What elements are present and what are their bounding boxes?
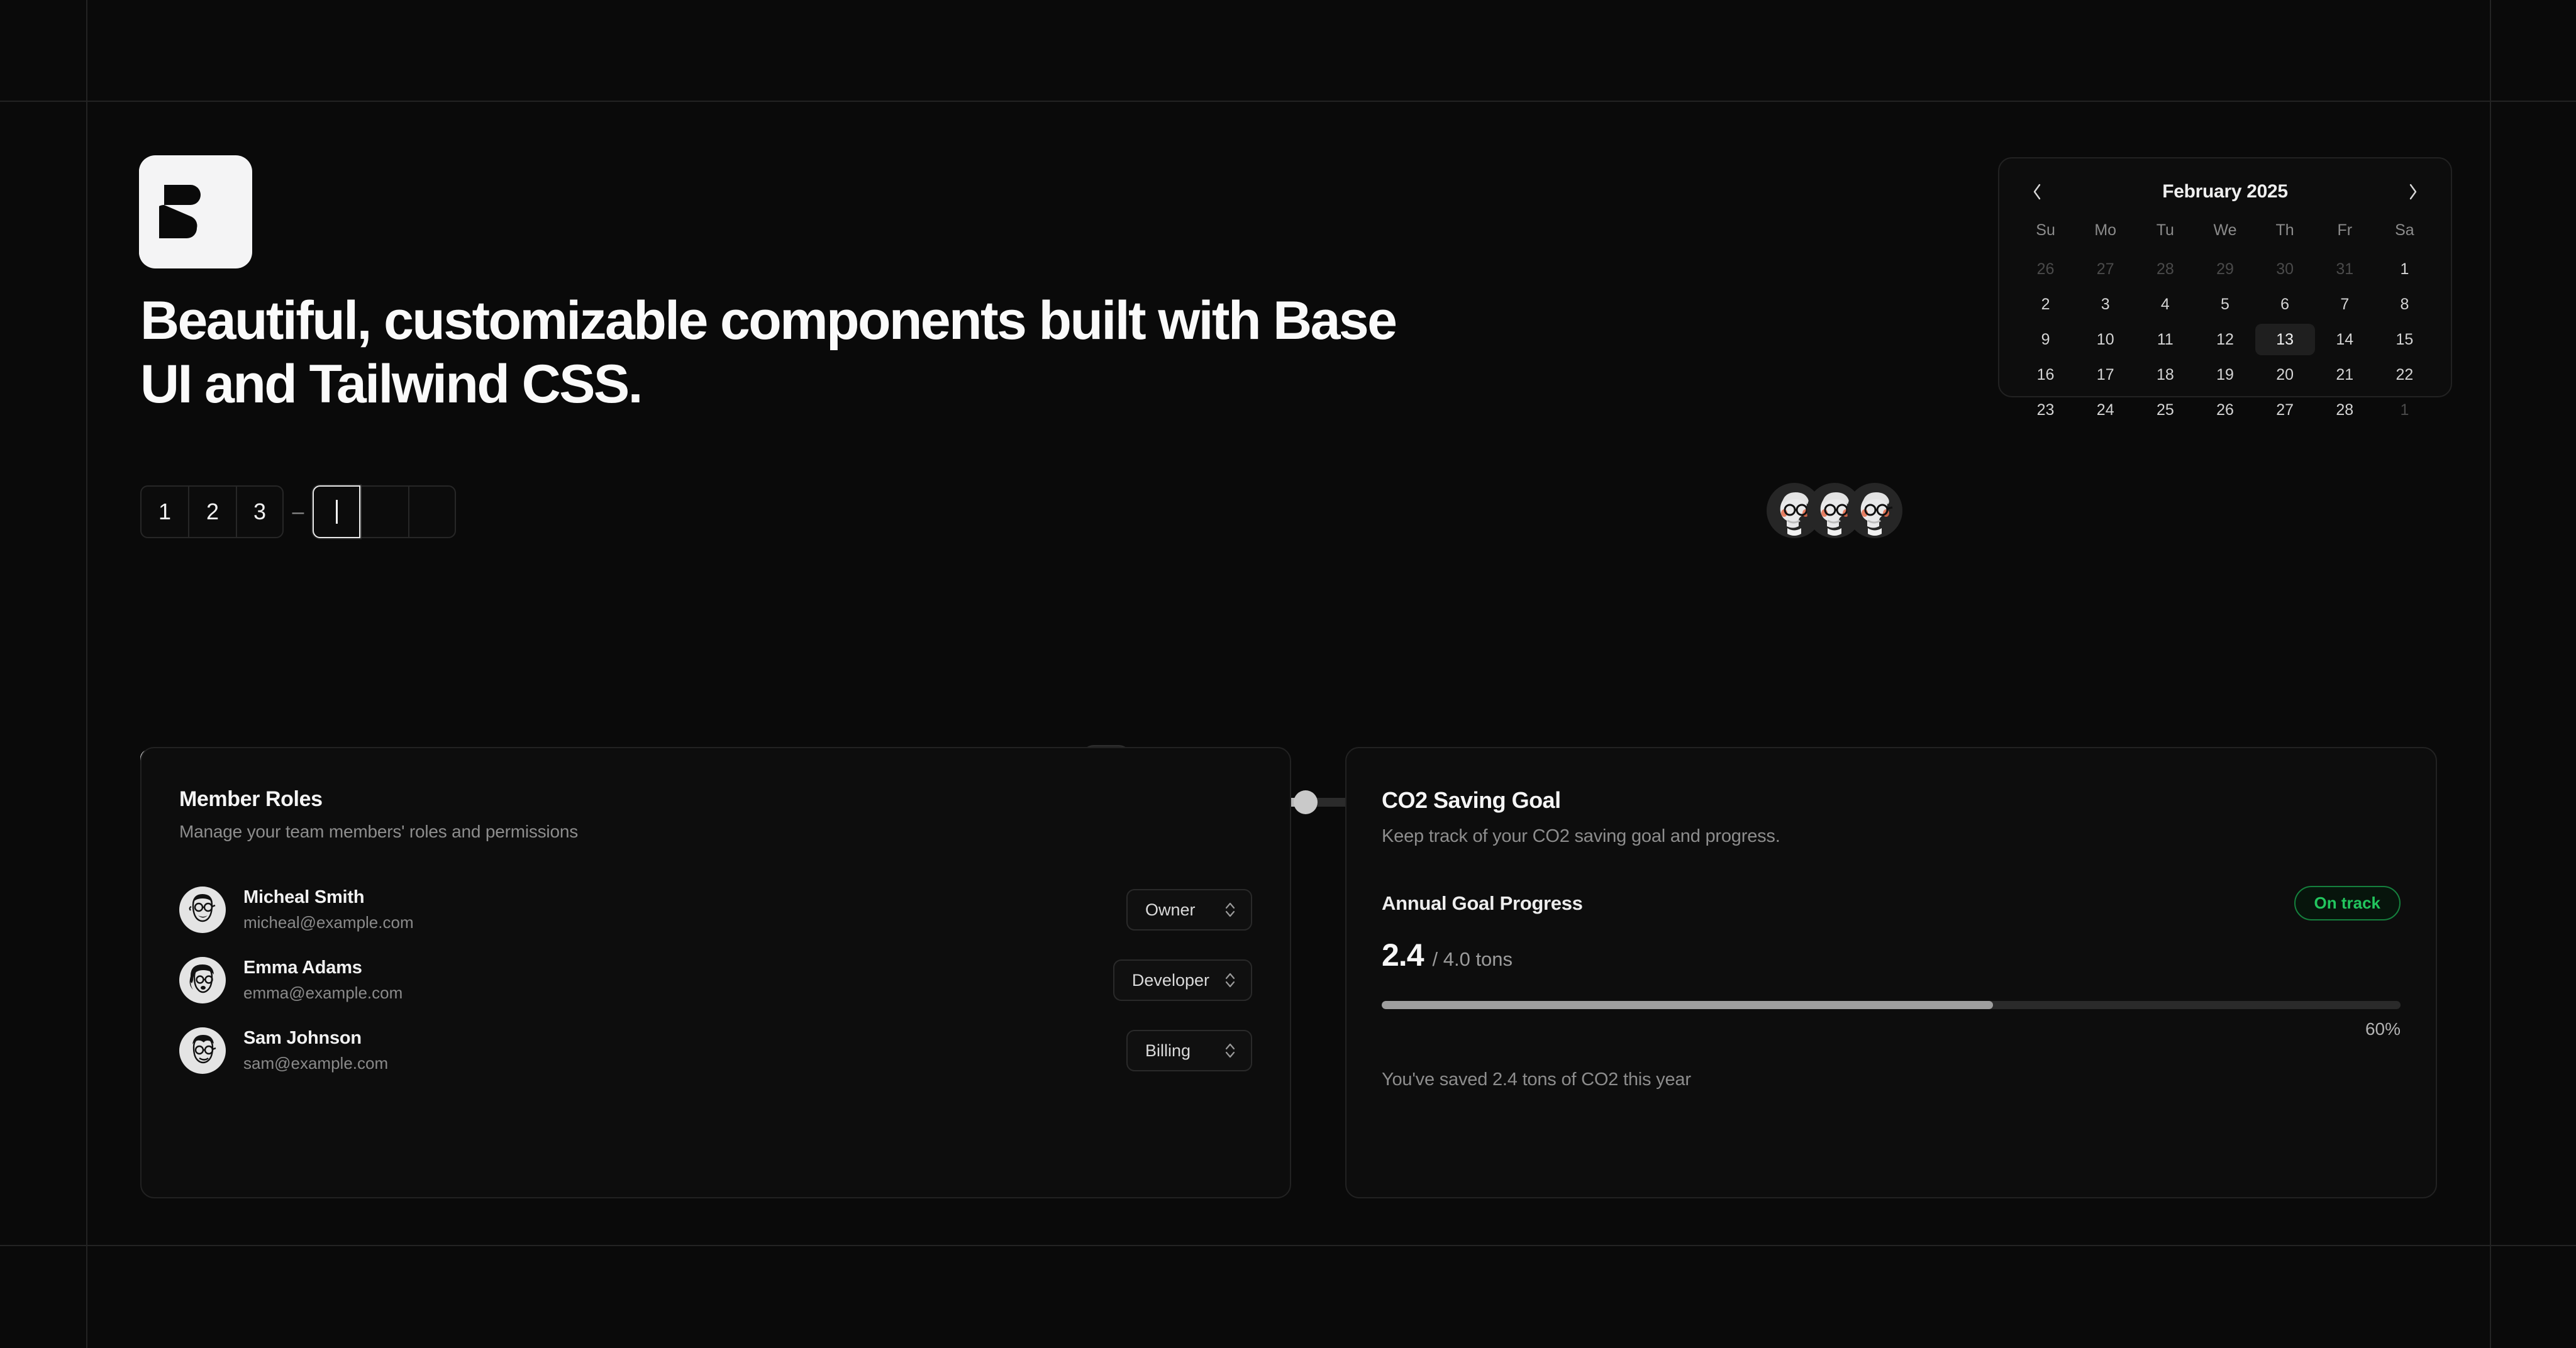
page-root: Beautiful, customizable components built… (0, 0, 2576, 1348)
member-roles-title: Member Roles (179, 787, 1252, 812)
member-info: Emma Adams emma@example.com (243, 958, 1113, 1003)
calendar-day[interactable]: 1 (2375, 394, 2434, 426)
role-select-value: Owner (1145, 900, 1196, 920)
grid-line-right (2490, 0, 2491, 1348)
member-name: Emma Adams (243, 958, 1113, 978)
member-roles-subtitle: Manage your team members' roles and perm… (179, 822, 1252, 842)
member-info: Micheal Smith micheal@example.com (243, 887, 1126, 932)
headline-line-2: UI and Tailwind CSS. (140, 354, 641, 414)
calendar-day[interactable]: 10 (2075, 324, 2135, 355)
calendar-weekday: Tu (2135, 215, 2195, 245)
role-select[interactable]: Developer (1113, 959, 1252, 1001)
calendar-weekday: Mo (2075, 215, 2135, 245)
calendar-day[interactable]: 30 (2255, 253, 2315, 285)
page-title: Beautiful, customizable components built… (140, 289, 1775, 416)
headline-line-1: Beautiful, customizable components built… (140, 290, 1396, 351)
co2-card-subtitle: Keep track of your CO2 saving goal and p… (1382, 826, 2401, 847)
member-row: Emma Adams emma@example.com Developer (179, 945, 1252, 1015)
calendar-weekday: We (2195, 215, 2255, 245)
otp-slot-6[interactable] (408, 485, 456, 538)
calendar-day-grid: 2627282930311234567891011121314151617181… (2016, 251, 2434, 428)
member-row: Micheal Smith micheal@example.com Owner (179, 875, 1252, 945)
avatar (179, 887, 226, 933)
otp-group-second[interactable] (313, 485, 456, 538)
calendar-day[interactable]: 28 (2135, 253, 2195, 285)
avatar (179, 1027, 226, 1074)
calendar-day[interactable]: 23 (2016, 394, 2075, 426)
otp-slot-5[interactable] (360, 485, 408, 538)
chevron-up-down-icon (1223, 1041, 1237, 1061)
otp-slot-2[interactable]: 2 (188, 485, 236, 538)
calendar-day[interactable]: 26 (2016, 253, 2075, 285)
calendar-day[interactable]: 14 (2315, 324, 2375, 355)
calendar-day[interactable]: 29 (2195, 253, 2255, 285)
member-name: Micheal Smith (243, 887, 1126, 908)
chevron-left-icon (2031, 182, 2043, 201)
calendar-prev-button[interactable] (2023, 178, 2051, 206)
co2-saving-goal-card: CO2 Saving Goal Keep track of your CO2 s… (1345, 747, 2437, 1198)
goal-progress-fill (1382, 1001, 1993, 1009)
co2-card-title: CO2 Saving Goal (1382, 787, 2401, 814)
calendar-day[interactable]: 25 (2135, 394, 2195, 426)
role-select-value: Developer (1132, 971, 1209, 990)
calendar-day[interactable]: 18 (2135, 359, 2195, 390)
otp-slot-3[interactable]: 3 (236, 485, 284, 538)
calendar-day[interactable]: 7 (2315, 289, 2375, 320)
calendar-day[interactable]: 3 (2075, 289, 2135, 320)
member-email: micheal@example.com (243, 913, 1126, 932)
co2-card-footer: You've saved 2.4 tons of CO2 this year (1382, 1069, 2401, 1090)
goal-amount-row: 2.4 / 4.0 tons (1382, 937, 2401, 973)
calendar-next-button[interactable] (2399, 178, 2427, 206)
goal-progress-percent: 60% (1382, 1019, 2401, 1039)
goal-progress-bar (1382, 1001, 2401, 1009)
avatar[interactable] (1847, 483, 1902, 538)
member-list: Micheal Smith micheal@example.com Owner (179, 875, 1252, 1086)
calendar-panel: February 2025 Su Mo Tu We Th Fr Sa 26272… (1998, 157, 2452, 397)
calendar-day[interactable]: 27 (2075, 253, 2135, 285)
brand-logo-icon (139, 155, 252, 268)
member-info: Sam Johnson sam@example.com (243, 1028, 1126, 1073)
calendar-day[interactable]: 16 (2016, 359, 2075, 390)
calendar-day[interactable]: 26 (2195, 394, 2255, 426)
otp-group-first[interactable]: 1 2 3 (140, 485, 284, 538)
annual-goal-label: Annual Goal Progress (1382, 892, 1583, 915)
calendar-day[interactable]: 31 (2315, 253, 2375, 285)
content-canvas: Beautiful, customizable components built… (87, 102, 2490, 1245)
chevron-up-down-icon (1223, 900, 1237, 920)
otp-slot-1[interactable]: 1 (140, 485, 188, 538)
calendar-weekday: Fr (2315, 215, 2375, 245)
goal-amount-total: / 4.0 tons (1433, 948, 1513, 971)
calendar-day[interactable]: 17 (2075, 359, 2135, 390)
otp-slot-4[interactable] (313, 485, 360, 538)
calendar-month-label: February 2025 (2162, 181, 2288, 202)
calendar-day[interactable]: 24 (2075, 394, 2135, 426)
calendar-day[interactable]: 1 (2375, 253, 2434, 285)
goal-amount-value: 2.4 (1382, 937, 1424, 973)
role-select[interactable]: Billing (1126, 1030, 1252, 1071)
calendar-weekday: Su (2016, 215, 2075, 245)
avatar (179, 957, 226, 1003)
calendar-day[interactable]: 27 (2255, 394, 2315, 426)
member-row: Sam Johnson sam@example.com Billing (179, 1015, 1252, 1086)
calendar-weekday: Th (2255, 215, 2315, 245)
calendar-day[interactable]: 8 (2375, 289, 2434, 320)
calendar-day[interactable]: 6 (2255, 289, 2315, 320)
calendar-day[interactable]: 5 (2195, 289, 2255, 320)
status-badge: On track (2294, 886, 2401, 920)
grid-line-bottom (0, 1245, 2576, 1246)
calendar-day[interactable]: 22 (2375, 359, 2434, 390)
calendar-day[interactable]: 28 (2315, 394, 2375, 426)
calendar-day[interactable]: 21 (2315, 359, 2375, 390)
text-caret (336, 500, 338, 524)
role-select[interactable]: Owner (1126, 889, 1252, 931)
otp-separator: – (284, 500, 313, 524)
chevron-right-icon (2407, 182, 2419, 201)
calendar-day[interactable]: 20 (2255, 359, 2315, 390)
calendar-day[interactable]: 13 (2255, 324, 2315, 355)
chevron-up-down-icon (1223, 970, 1237, 990)
calendar-day[interactable]: 11 (2135, 324, 2195, 355)
avatar-group[interactable] (1767, 483, 1902, 538)
calendar-day[interactable]: 2 (2016, 289, 2075, 320)
calendar-day[interactable]: 19 (2195, 359, 2255, 390)
otp-input[interactable]: 1 2 3 – (140, 485, 456, 538)
calendar-day[interactable]: 9 (2016, 324, 2075, 355)
calendar-day[interactable]: 4 (2135, 289, 2195, 320)
member-email: emma@example.com (243, 983, 1113, 1003)
role-select-value: Billing (1145, 1041, 1191, 1061)
calendar-day[interactable]: 15 (2375, 324, 2434, 355)
calendar-weekday-row: Su Mo Tu We Th Fr Sa (2016, 215, 2434, 245)
member-name: Sam Johnson (243, 1028, 1126, 1049)
member-email: sam@example.com (243, 1054, 1126, 1073)
calendar-header: February 2025 (2016, 175, 2434, 209)
member-roles-card: Member Roles Manage your team members' r… (140, 747, 1291, 1198)
calendar-weekday: Sa (2375, 215, 2434, 245)
goal-header-row: Annual Goal Progress On track (1382, 886, 2401, 920)
calendar-day[interactable]: 12 (2195, 324, 2255, 355)
slider-thumb[interactable] (1294, 790, 1318, 814)
